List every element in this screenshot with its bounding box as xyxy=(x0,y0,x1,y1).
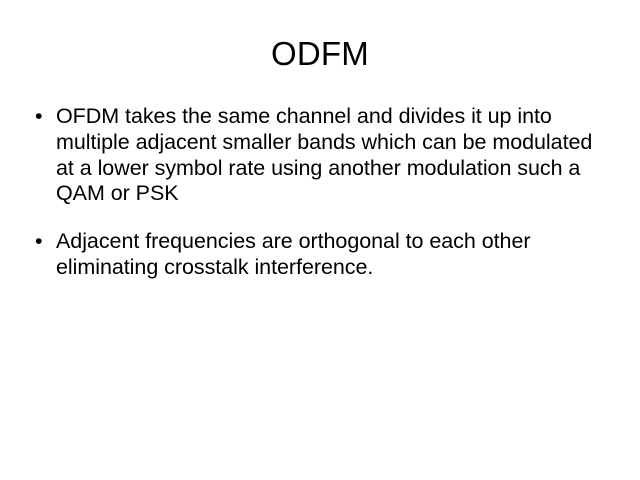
slide-body: • OFDM takes the same channel and divide… xyxy=(30,104,610,281)
bullet-item: • Adjacent frequencies are orthogonal to… xyxy=(30,229,610,281)
bullet-list: • OFDM takes the same channel and divide… xyxy=(30,104,610,281)
bullet-item-text: Adjacent frequencies are orthogonal to e… xyxy=(56,229,610,281)
bullet-point-icon: • xyxy=(35,104,49,130)
bullet-point-icon: • xyxy=(35,229,49,255)
presentation-slide: ODFM • OFDM takes the same channel and d… xyxy=(0,0,640,480)
slide-title: ODFM xyxy=(32,34,608,74)
bullet-item: • OFDM takes the same channel and divide… xyxy=(30,104,610,207)
bullet-item-text: OFDM takes the same channel and divides … xyxy=(56,104,610,207)
